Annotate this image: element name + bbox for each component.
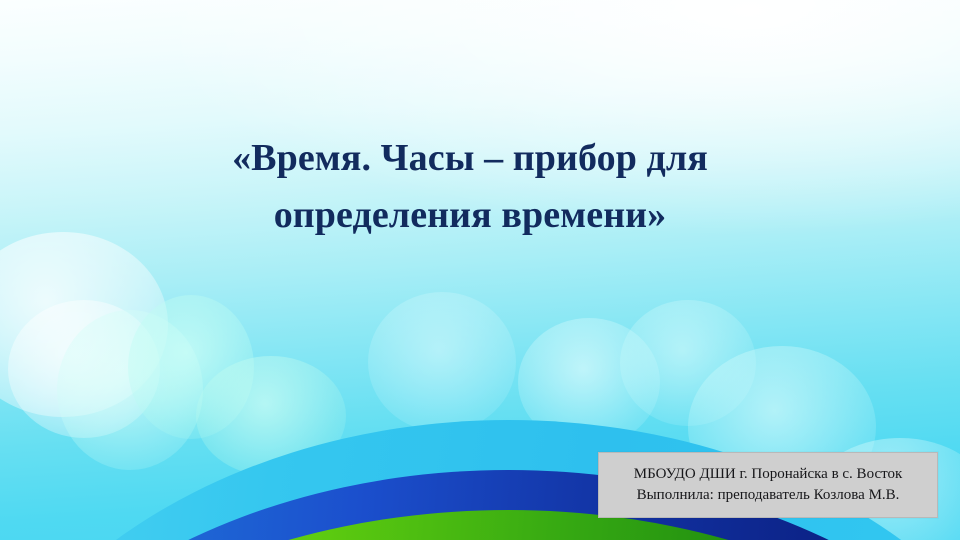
caption-institution: МБОУДО ДШИ г. Поронайска в с. Восток xyxy=(634,464,903,485)
title-slide: «Время. Часы – прибор для определения вр… xyxy=(0,0,960,540)
slide-title-line-2: определения времени» xyxy=(100,187,840,244)
author-caption-box: МБОУДО ДШИ г. Поронайска в с. Восток Вып… xyxy=(598,452,938,518)
caption-author: Выполнила: преподаватель Козлова М.В. xyxy=(637,485,900,506)
slide-title: «Время. Часы – прибор для определения вр… xyxy=(100,130,840,244)
slide-title-line-1: «Время. Часы – прибор для xyxy=(100,130,840,187)
